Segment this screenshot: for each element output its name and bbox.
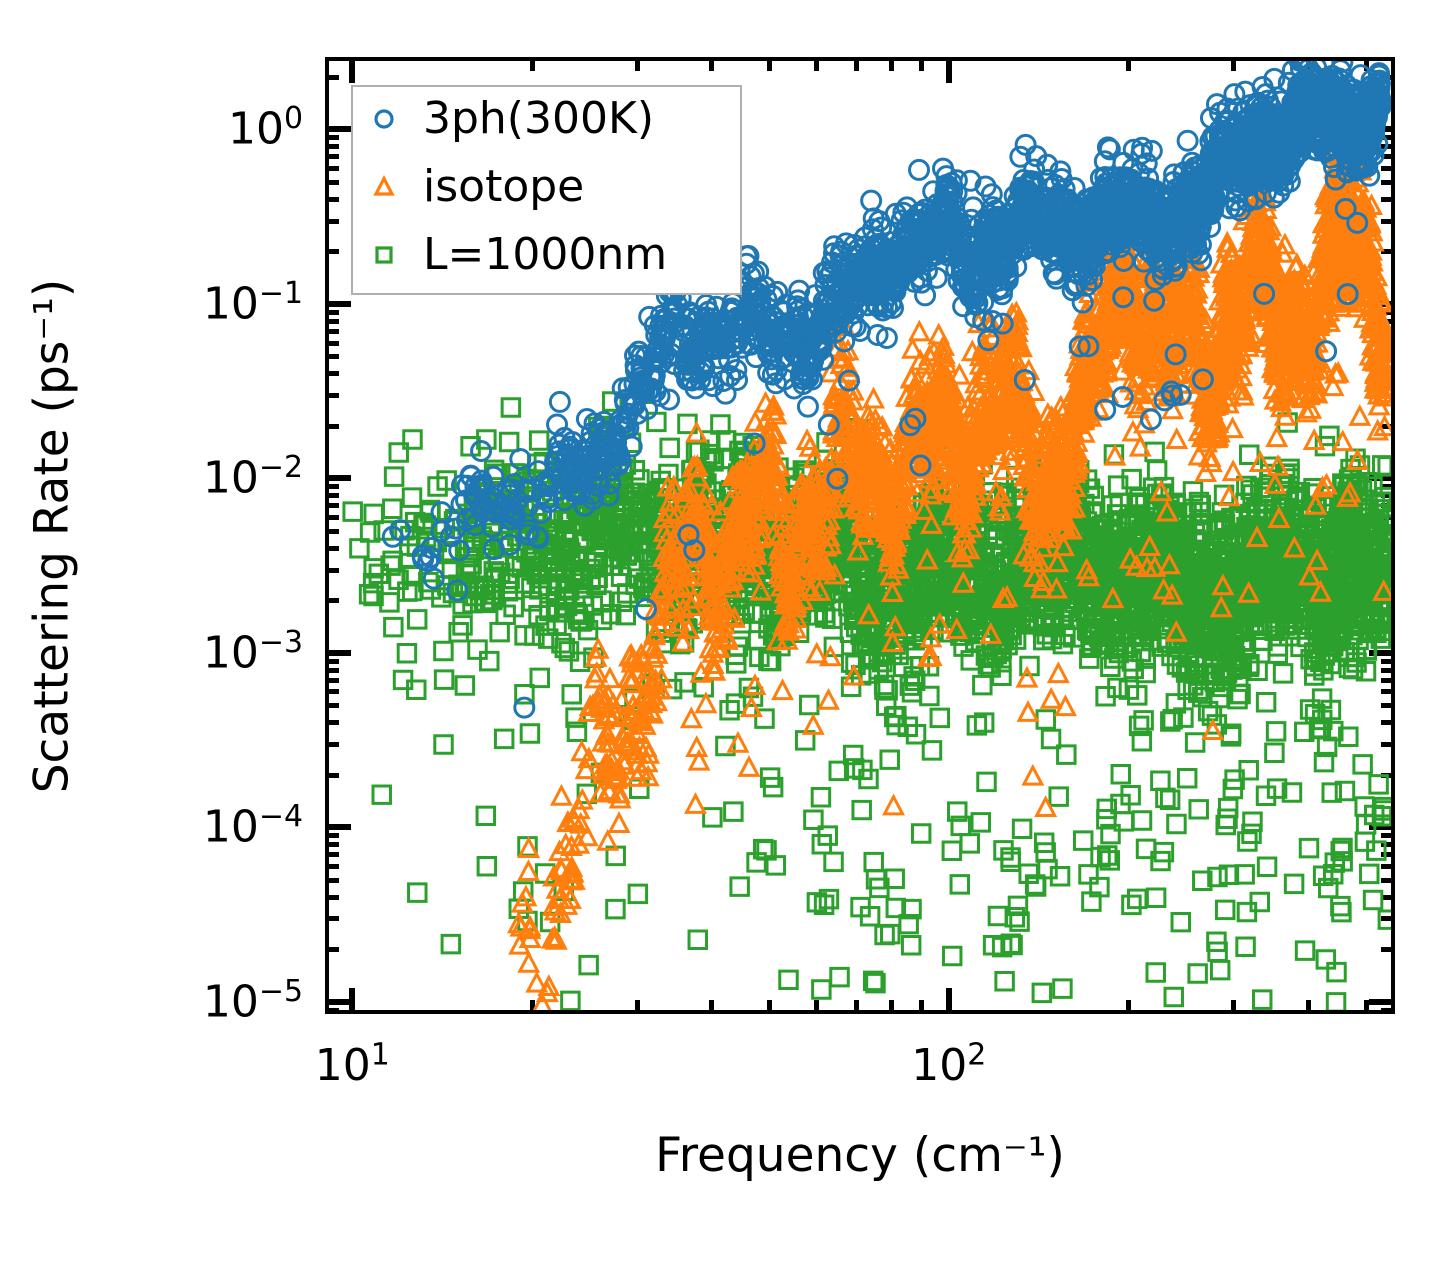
x-tick-label: 101 [315,1040,390,1091]
triangle-open-icon [367,174,401,200]
legend-label-3ph: 3ph(300K) [401,93,654,144]
y-tick-label: 10−4 [203,802,303,853]
legend-box[interactable]: 3ph(300K) isotope L=1000nm [351,85,742,295]
x-tick-label: 102 [911,1040,986,1091]
x-axis-title: Frequency (cm⁻¹) [655,1128,1065,1183]
legend-entry-0[interactable]: 3ph(300K) [367,93,654,144]
legend-label-L1000nm: L=1000nm [401,229,667,280]
y-tick-label: 100 [228,104,303,155]
scatter-plot-figure: Scattering Rate (ps⁻¹) Frequency (cm⁻¹) … [0,0,1455,1265]
y-tick-label: 10−5 [203,976,303,1027]
circle-open-icon [367,106,401,132]
legend-entry-2[interactable]: L=1000nm [367,229,667,280]
y-tick-label: 10−2 [203,453,303,504]
y-axis-title: Scattering Rate (ps⁻¹) [25,278,80,793]
square-open-icon [367,242,401,268]
legend-entry-1[interactable]: isotope [367,161,584,212]
legend-label-isotope: isotope [401,161,584,212]
y-tick-label: 10−3 [203,627,303,678]
y-tick-label: 10−1 [203,278,303,329]
